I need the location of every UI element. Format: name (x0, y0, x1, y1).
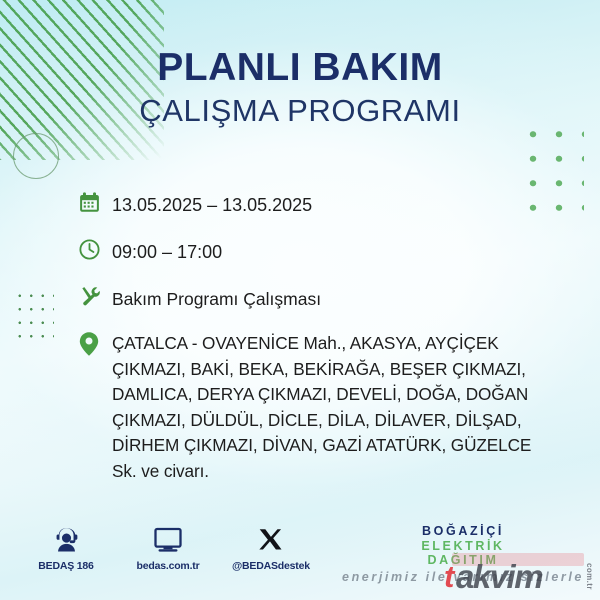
x-twitter-icon (232, 522, 308, 554)
brand-slogan: enerjimiz ile varımız sizlerle (342, 570, 584, 585)
dot-grid-left-decoration (14, 289, 54, 346)
info-row-type: Bakım Programı Çalışması (78, 284, 558, 315)
support-agent-icon (28, 522, 104, 554)
calendar-icon (78, 190, 112, 221)
watermark-suffix: com.tr (585, 563, 594, 590)
bedas-logo: BOĞAZİÇİ ELEKTRİK DAĞITIM enerjimiz ile … (342, 524, 584, 584)
info-row-date: 13.05.2025 – 13.05.2025 (78, 190, 558, 221)
affected-streets: ÇATALCA - OVAYENİCE Mah., AKASYA, AYÇİÇE… (112, 329, 552, 485)
clock-icon (78, 237, 112, 268)
brand-line-3: DAĞITIM (342, 553, 584, 568)
page-title: PLANLI BAKIM (0, 46, 600, 90)
maintenance-time-range: 09:00 – 17:00 (112, 237, 222, 266)
page-subtitle: ÇALIŞMA PROGRAMI (0, 92, 600, 130)
contact-website-label: bedas.com.tr (130, 560, 206, 572)
brand-line-1: BOĞAZİÇİ (342, 524, 584, 539)
poster-header: PLANLI BAKIM ÇALIŞMA PROGRAMI (0, 46, 600, 130)
contact-phone-label: BEDAŞ 186 (28, 560, 104, 572)
info-row-address: ÇATALCA - OVAYENİCE Mah., AKASYA, AYÇİÇE… (78, 329, 558, 485)
maintenance-date-range: 13.05.2025 – 13.05.2025 (112, 190, 312, 219)
contact-channels: BEDAŞ 186 bedas.com.tr (28, 522, 308, 572)
brand-line-2: ELEKTRİK (342, 539, 584, 554)
info-row-time: 09:00 – 17:00 (78, 237, 558, 268)
monitor-icon (130, 522, 206, 554)
contact-website[interactable]: bedas.com.tr (130, 522, 206, 572)
contact-social[interactable]: @BEDASdestek (232, 522, 308, 572)
contact-phone[interactable]: BEDAŞ 186 (28, 522, 104, 572)
contact-social-label: @BEDASdestek (232, 560, 308, 572)
info-list: 13.05.2025 – 13.05.2025 09:00 – 17:00 Ba… (78, 190, 558, 501)
location-pin-icon (78, 329, 112, 361)
poster-canvas: PLANLI BAKIM ÇALIŞMA PROGRAMI (0, 0, 600, 600)
circle-outline-decoration (13, 133, 59, 179)
tools-icon (78, 284, 112, 315)
maintenance-type: Bakım Programı Çalışması (112, 284, 321, 313)
poster-footer: BEDAŞ 186 bedas.com.tr (0, 514, 600, 600)
